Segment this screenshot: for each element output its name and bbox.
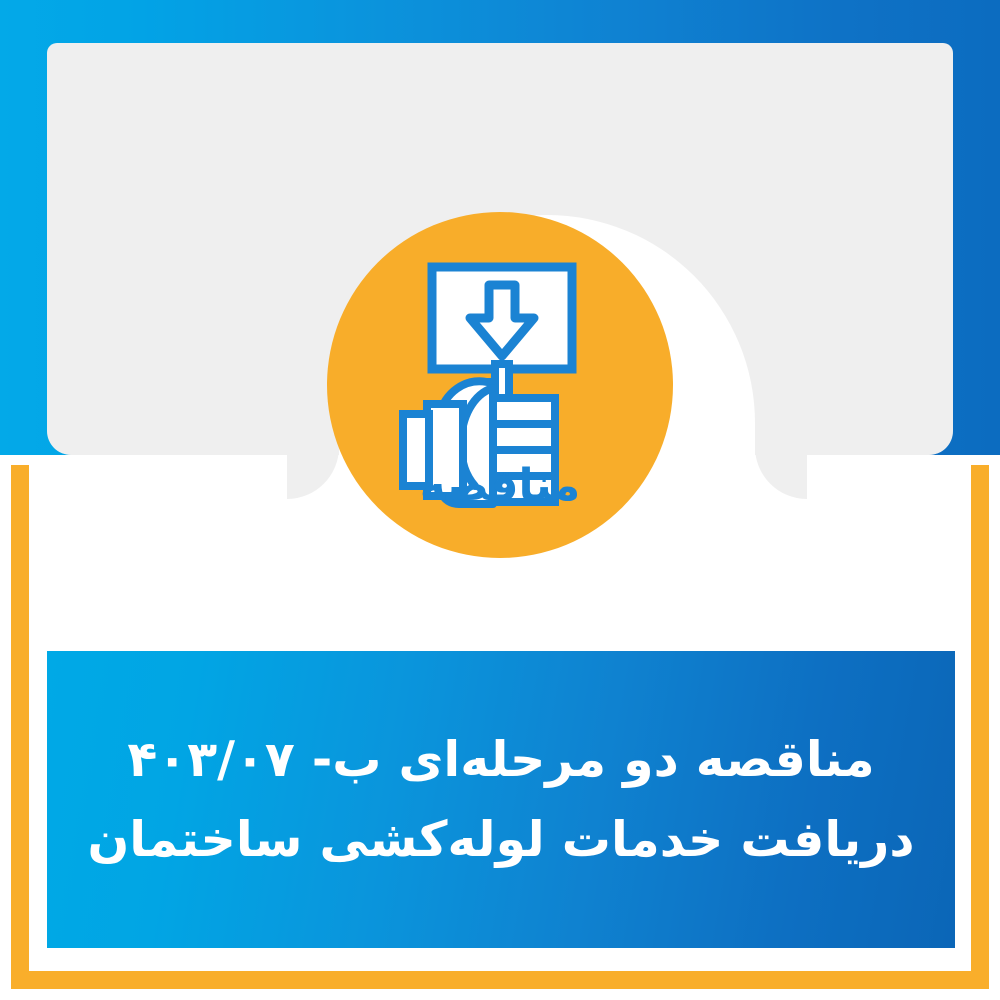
- tender-badge: مناقصه: [327, 212, 673, 558]
- caption-box: مناقصه دو مرحله‌ای ب- ۴۰۳/۰۷ دریافت خدما…: [47, 651, 955, 948]
- orange-frame-left: [11, 465, 29, 989]
- tender-announcement-card: مناقصه مناقصه دو مرحله‌ای ب- ۴۰۳/۰۷ دریا…: [0, 0, 1000, 1000]
- caption-line-1: مناقصه دو مرحله‌ای ب- ۴۰۳/۰۷: [127, 720, 874, 799]
- caption-line-2: دریافت خدمات لوله‌کشی ساختمان: [87, 800, 914, 879]
- orange-frame-bottom: [11, 971, 989, 989]
- orange-frame-right: [971, 465, 989, 989]
- arch-fillet-right: [755, 447, 807, 499]
- badge-label: مناقصه: [327, 464, 673, 508]
